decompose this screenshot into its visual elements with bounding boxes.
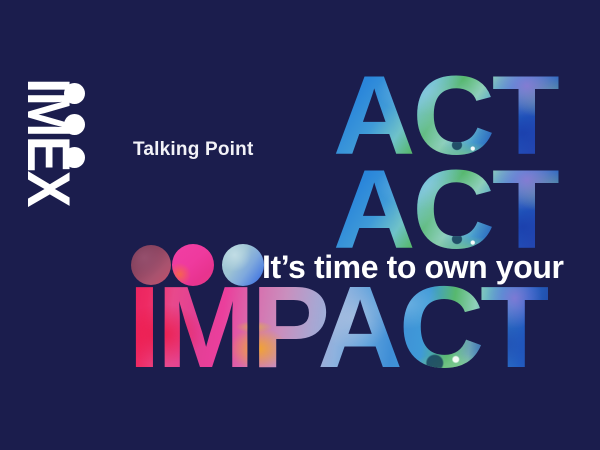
promo-banner: IMEX Talking Point ACT ACT It’s time to …: [0, 0, 600, 450]
imex-dot-1: [64, 83, 85, 104]
imex-dot-2: [64, 114, 85, 135]
eyebrow-label: Talking Point: [133, 139, 253, 161]
imex-dot-3: [64, 147, 85, 168]
imex-logo-dots: [62, 83, 88, 169]
imex-logo[interactable]: IMEX: [22, 78, 90, 256]
headline-row-act-2: ACT: [333, 166, 559, 253]
headline-row-impact: IMPACT: [128, 282, 548, 372]
